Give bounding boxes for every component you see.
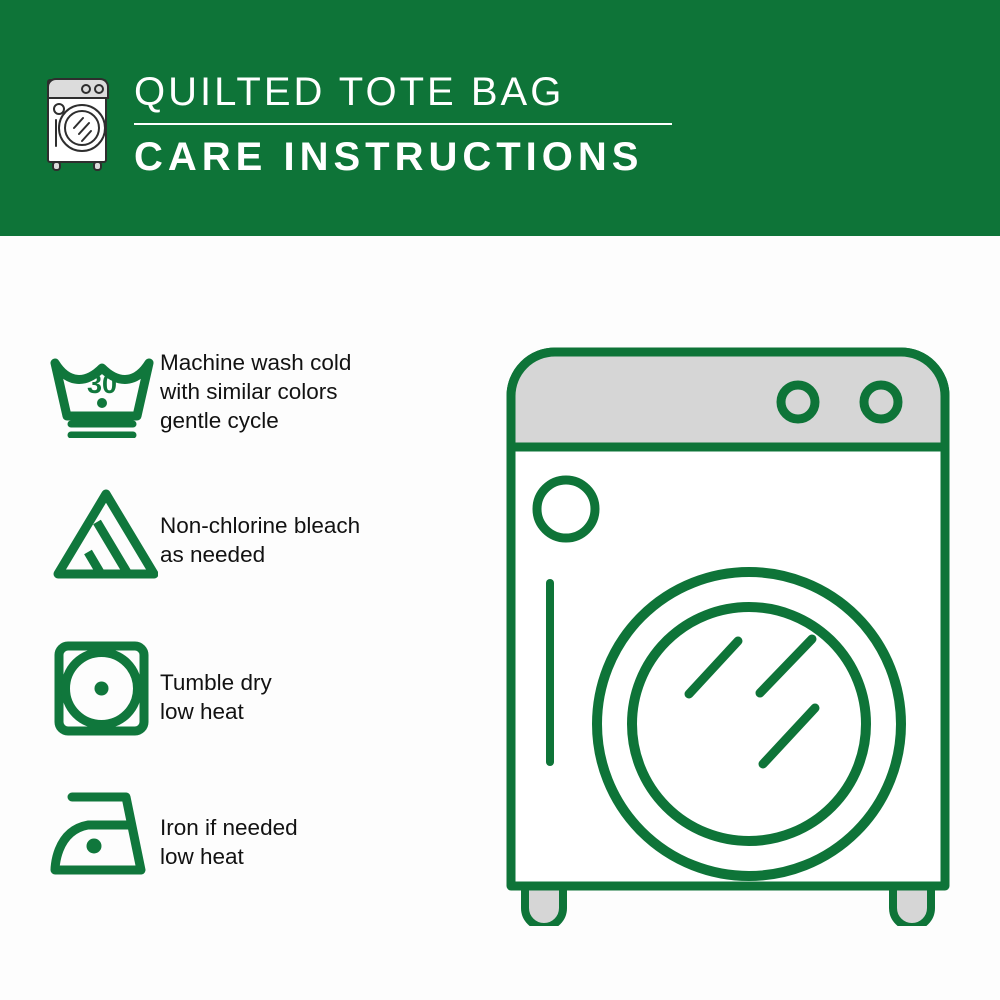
machine-wash-cold-symbol: 30 <box>50 346 158 438</box>
care-symbol-wrapper: 30 <box>50 346 160 438</box>
header-title-block: QUILTED TOTE BAG CARE INSTRUCTIONS <box>134 66 672 180</box>
page-subtitle: CARE INSTRUCTIONS <box>134 134 672 180</box>
wash-temperature-label: 30 <box>87 369 117 399</box>
care-instruction-item: Iron if needed low heat <box>50 791 298 877</box>
care-symbol-wrapper <box>50 791 160 877</box>
non-chlorine-bleach-symbol <box>50 486 158 581</box>
care-instruction-text: Tumble dry low heat <box>160 641 272 726</box>
care-symbol-wrapper <box>50 486 160 581</box>
care-instructions-list: 30 Machine wash cold with similar colors… <box>0 236 470 1000</box>
care-instruction-text: Non-chlorine bleach as needed <box>160 486 360 569</box>
washing-machine-illustration <box>495 336 975 926</box>
header-content: QUILTED TOTE BAG CARE INSTRUCTIONS <box>44 66 672 180</box>
care-instruction-item: 30 Machine wash cold with similar colors… <box>50 346 351 438</box>
header-banner: QUILTED TOTE BAG CARE INSTRUCTIONS <box>0 0 1000 236</box>
tumble-dry-low-symbol <box>50 641 158 736</box>
care-symbol-wrapper <box>50 641 160 736</box>
care-instruction-item: Non-chlorine bleach as needed <box>50 486 360 581</box>
care-instruction-text: Iron if needed low heat <box>160 791 298 871</box>
title-divider <box>134 123 672 125</box>
care-instruction-text: Machine wash cold with similar colors ge… <box>160 346 351 435</box>
care-instruction-item: Tumble dry low heat <box>50 641 272 736</box>
washing-machine-icon <box>44 66 112 172</box>
washer-control-panel <box>511 352 945 447</box>
iron-low-heat-symbol <box>50 791 158 877</box>
page-title: QUILTED TOTE BAG <box>134 68 672 116</box>
